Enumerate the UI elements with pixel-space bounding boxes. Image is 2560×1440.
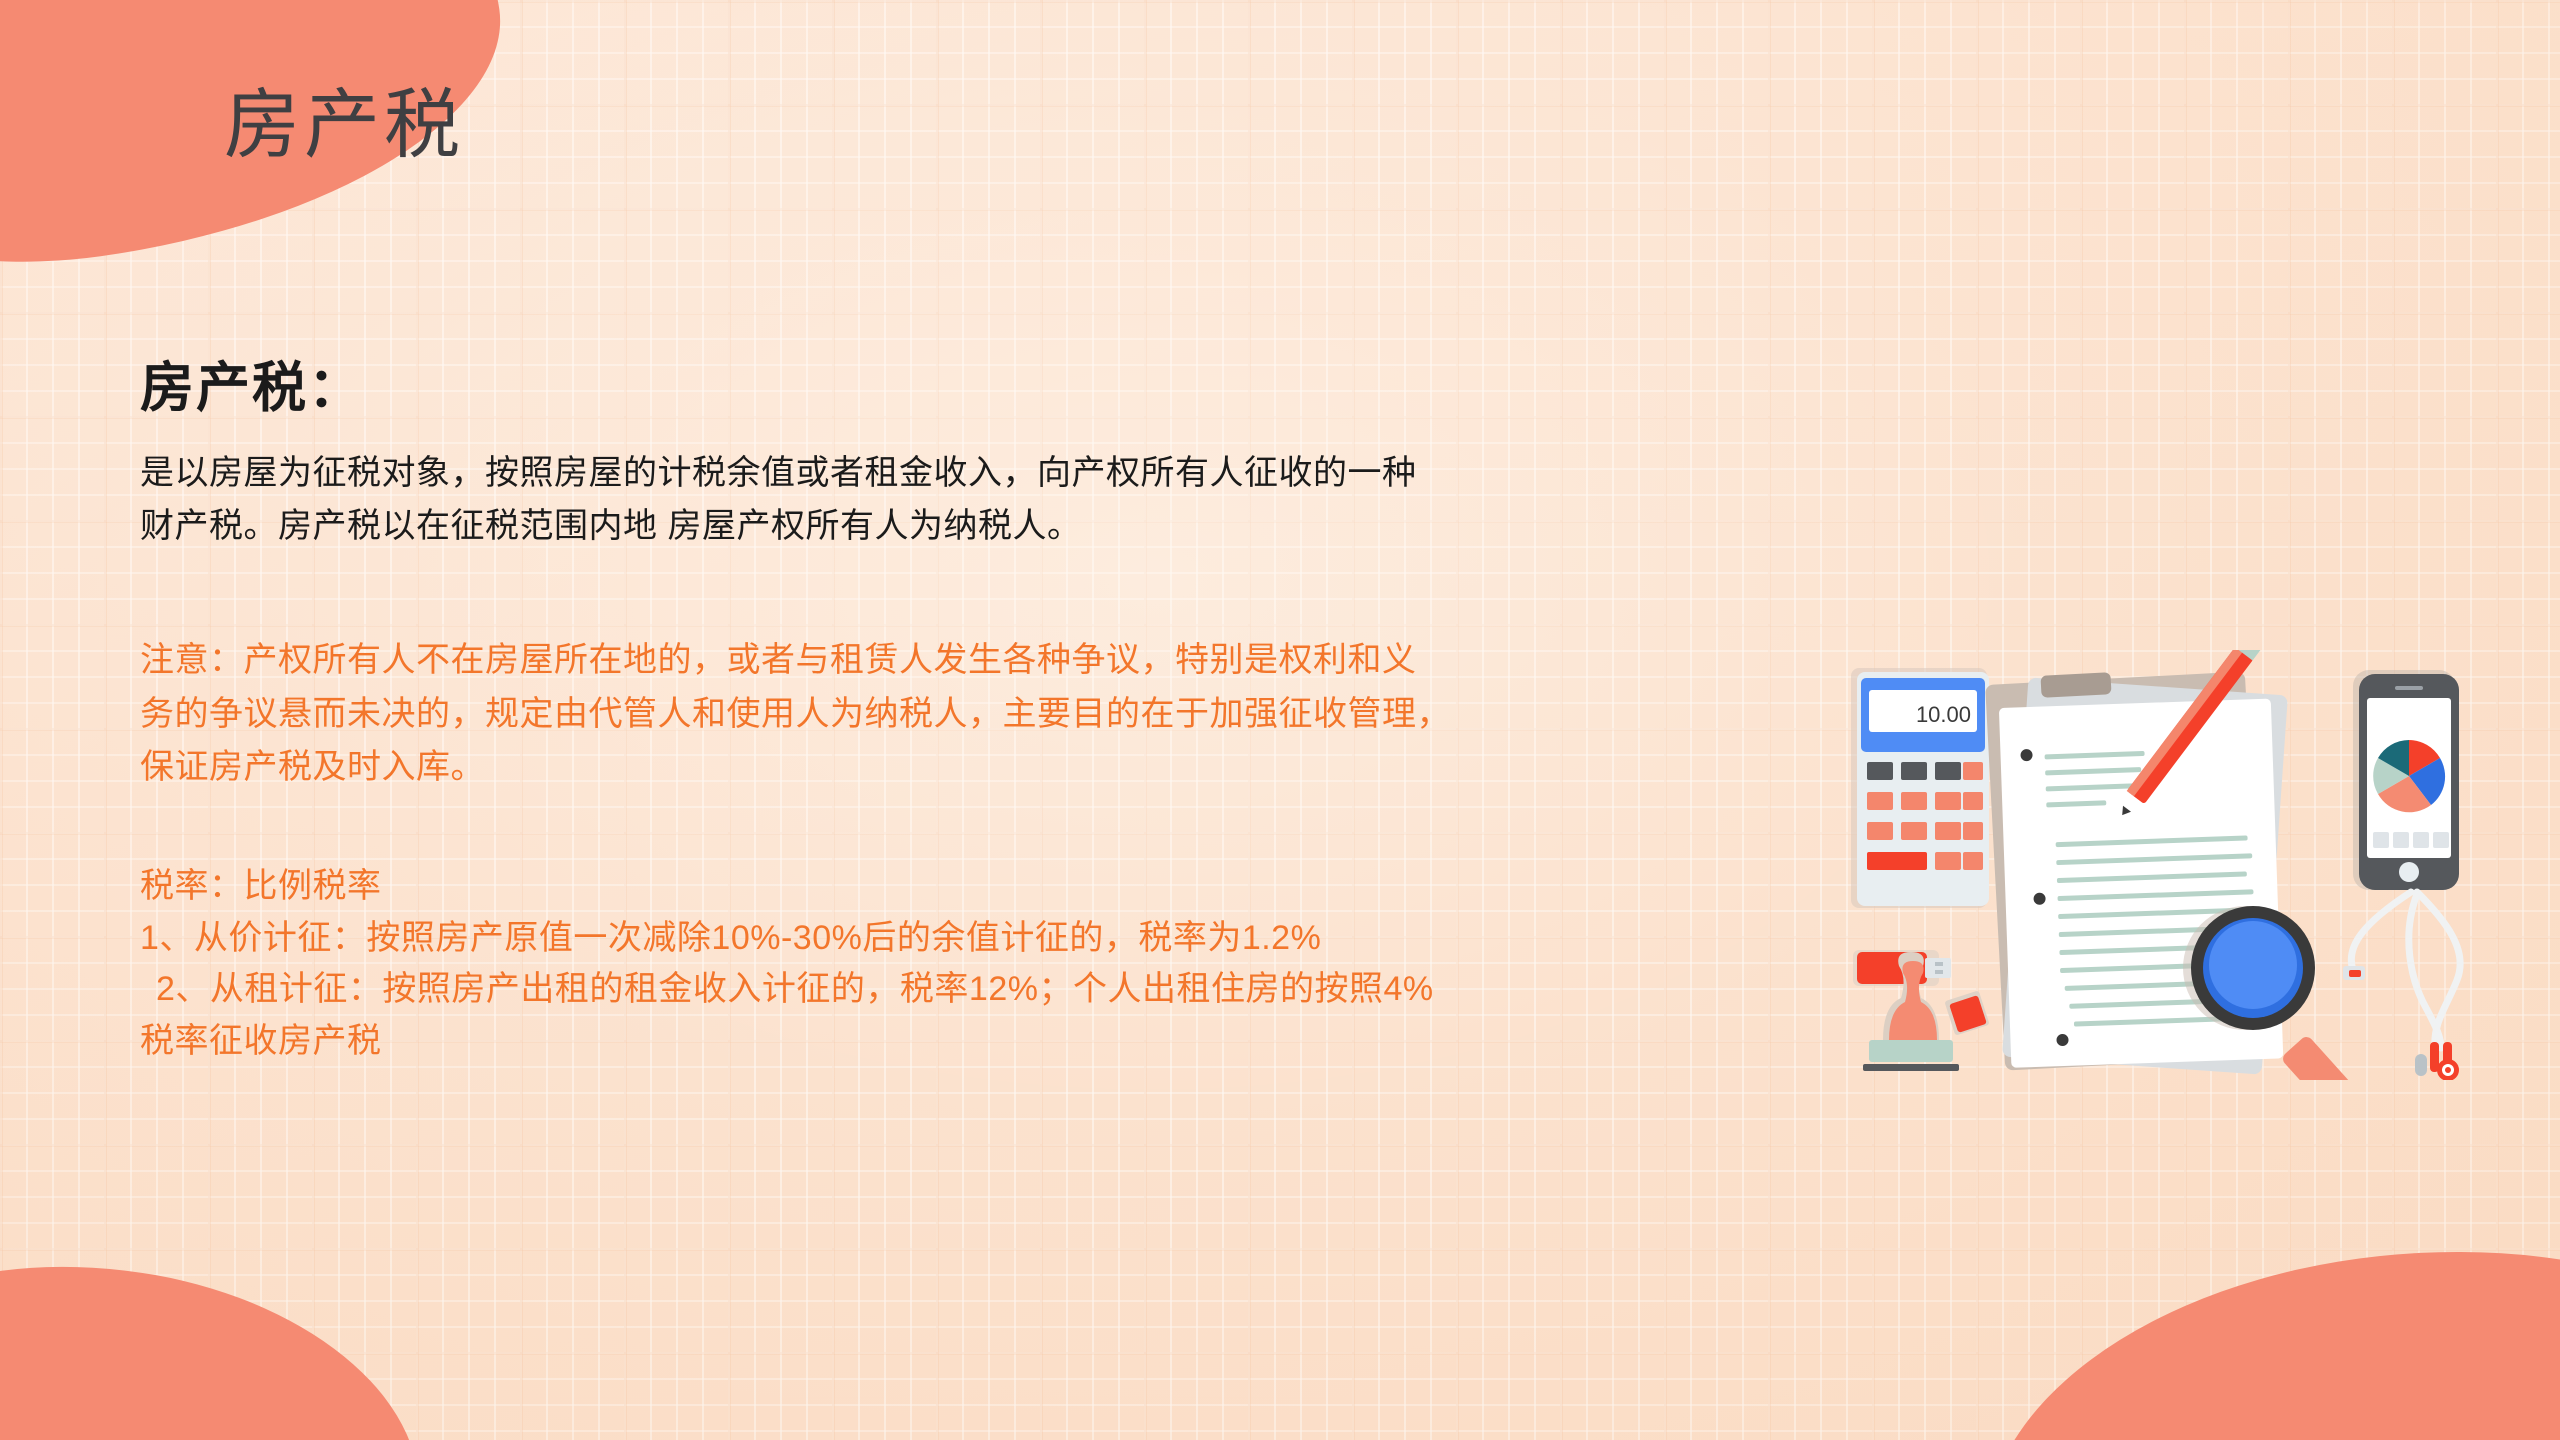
spacer-1 (140, 554, 1760, 634)
calculator-icon: 10.00 (1851, 668, 1989, 908)
definition-line-2: 财产税。房产税以在征税范围内地 房屋产权所有人为纳税人。 (140, 500, 1750, 554)
slide-canvas: 房产税 房产税： 是以房屋为征税对象，按照房屋的计税余值或者租金收入，向产权所有… (0, 0, 2560, 1440)
calculator-display-value: 10.00 (1916, 702, 1971, 727)
rate-item-1: 1、从价计征：按照房产原值一次减除10%-30%后的余值计征的，税率为1.2% (140, 913, 1750, 965)
note-paragraph: 注意：产权所有人不在房屋所在地的，或者与租赁人发生各种争议，特别是权利和义 务的… (140, 634, 1750, 795)
spacer-2 (140, 795, 1760, 861)
section-heading: 房产税： (140, 355, 1760, 423)
definition-line-1: 是以房屋为征税对象，按照房屋的计税余值或者租金收入，向产权所有人征收的一种 (140, 447, 1750, 501)
earphones-icon (2351, 892, 2460, 1048)
definition-paragraph: 是以房屋为征税对象，按照房屋的计税余值或者租金收入，向产权所有人征收的一种 财产… (140, 447, 1750, 554)
smartphone-icon (2353, 670, 2459, 890)
tax-desk-illustration: 10.00 (1845, 650, 2505, 1080)
note-line-1: 注意：产权所有人不在房屋所在地的，或者与租赁人发生各种争议，特别是权利和义 (140, 634, 1750, 688)
note-line-3: 保证房产税及时入库。 (140, 741, 1750, 795)
content-column: 房产税： 是以房屋为征税对象，按照房屋的计税余值或者租金收入，向产权所有人征收的… (140, 355, 1760, 1068)
rates-block: 税率：比例税率 1、从价计征：按照房产原值一次减除10%-30%后的余值计征的，… (140, 861, 1750, 1068)
eraser-icon (1944, 990, 1989, 1035)
rate-item-2: 2、从租计征：按照房产出租的租金收入计征的，税率12%；个人出租住房的按照4% (140, 964, 1750, 1016)
page-title: 房产税 (224, 81, 464, 171)
rate-item-2-cont: 税率征收房产税 (140, 1016, 1750, 1068)
rates-heading: 税率：比例税率 (140, 861, 1750, 913)
phone-pie-chart (2373, 740, 2445, 812)
note-line-2: 务的争议悬而未决的，规定由代管人和使用人为纳税人，主要目的在于加强征收管理， (140, 688, 1750, 742)
